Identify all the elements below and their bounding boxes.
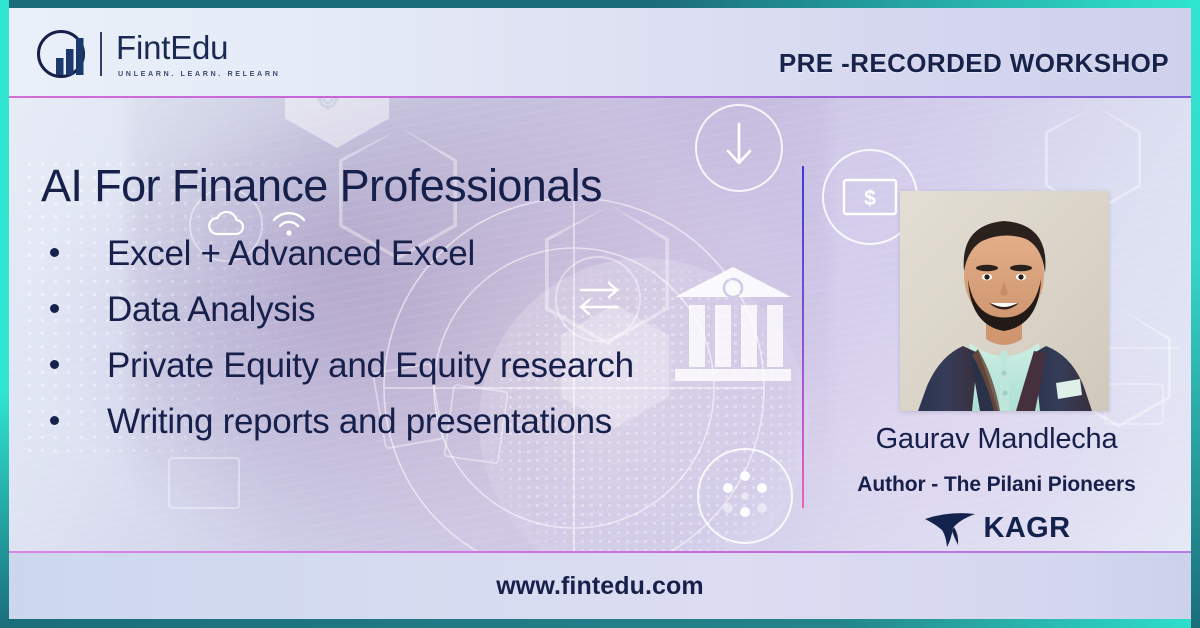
partner-name: KAGR bbox=[984, 512, 1071, 545]
frame-border-bottom bbox=[0, 619, 1200, 628]
background-download-arrow-icon bbox=[725, 122, 753, 174]
page-title: AI For Finance Professionals bbox=[41, 160, 602, 212]
list-item-label: Private Equity and Equity research bbox=[107, 346, 634, 386]
list-item-label: Excel + Advanced Excel bbox=[107, 234, 475, 274]
header-divider-rule bbox=[9, 96, 1191, 98]
kagr-bird-swoosh-icon bbox=[923, 508, 981, 548]
speaker-name: Gaurav Mandlecha bbox=[802, 423, 1191, 456]
svg-text:$: $ bbox=[864, 187, 876, 210]
course-topics-list: Excel + Advanced Excel Data Analysis Pri… bbox=[43, 234, 783, 458]
frame-border-right bbox=[1191, 0, 1200, 628]
speaker-section-divider bbox=[802, 166, 804, 508]
list-item-label: Data Analysis bbox=[107, 290, 315, 330]
logo-name: FintEdu bbox=[116, 31, 280, 64]
bullet-dot-icon bbox=[50, 360, 59, 369]
frame-border-left bbox=[0, 0, 9, 628]
website-url[interactable]: www.fintedu.com bbox=[496, 572, 704, 601]
workshop-promo-banner: $ bbox=[0, 0, 1200, 628]
frame-border-top bbox=[0, 0, 1200, 8]
list-item: Writing reports and presentations bbox=[43, 402, 783, 442]
footer-divider-rule bbox=[9, 551, 1191, 553]
banner-footer: www.fintedu.com bbox=[9, 553, 1191, 619]
workshop-type-label: PRE -RECORDED WORKSHOP bbox=[779, 48, 1169, 79]
speaker-role: Author - The Pilani Pioneers bbox=[802, 473, 1191, 497]
list-item: Excel + Advanced Excel bbox=[43, 234, 783, 274]
bullet-dot-icon bbox=[50, 416, 59, 425]
list-item-label: Writing reports and presentations bbox=[107, 402, 612, 442]
bullet-dot-icon bbox=[50, 304, 59, 313]
list-item: Private Equity and Equity research bbox=[43, 346, 783, 386]
background-dollar-bill-icon: $ bbox=[842, 174, 898, 220]
list-item: Data Analysis bbox=[43, 290, 783, 330]
logo-tagline: UNLEARN. LEARN. RELEARN bbox=[118, 69, 280, 78]
banner-card: $ bbox=[9, 8, 1191, 619]
bar-chart-circle-logo-icon bbox=[36, 27, 92, 81]
banner-header: FintEdu UNLEARN. LEARN. RELEARN PRE -REC… bbox=[9, 8, 1191, 96]
partner-logo[interactable]: KAGR bbox=[802, 506, 1191, 550]
speaker-portrait-photo bbox=[900, 191, 1109, 411]
fintedu-logo[interactable]: FintEdu UNLEARN. LEARN. RELEARN bbox=[36, 26, 280, 82]
logo-divider bbox=[100, 32, 102, 76]
bullet-dot-icon bbox=[50, 248, 59, 257]
